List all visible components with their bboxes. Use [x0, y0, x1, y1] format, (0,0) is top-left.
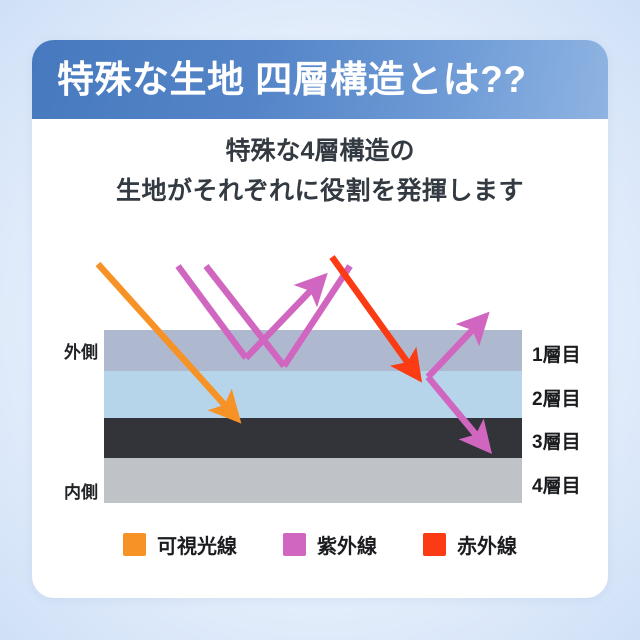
ray-arrows-overlay — [32, 40, 608, 598]
fabric-layer-1 — [104, 330, 522, 371]
legend-label-infrared: 赤外線 — [457, 530, 517, 559]
side-label-inner: 内側 — [36, 478, 98, 503]
layer-label-3: 3層目 — [532, 427, 581, 454]
ray-legend: 可視光線 紫外線 赤外線 — [32, 530, 608, 559]
legend-label-ultraviolet: 紫外線 — [317, 530, 377, 559]
info-card: 特殊な生地 四層構造とは?? 特殊な4層構造の 生地がそれぞれに役割を発揮します… — [32, 40, 608, 598]
layer-label-1: 1層目 — [532, 340, 581, 367]
fabric-layer-2 — [104, 371, 522, 418]
layer-label-4: 4層目 — [532, 471, 581, 498]
fabric-layer-4 — [104, 458, 522, 503]
legend-swatch-infrared — [423, 533, 446, 556]
side-label-outer: 外側 — [36, 338, 98, 363]
fabric-cross-section-diagram: 外側 内側 1層目 2層目 3層目 4層目 — [32, 40, 608, 598]
legend-swatch-visible-light — [123, 533, 146, 556]
page-background: 特殊な生地 四層構造とは?? 特殊な4層構造の 生地がそれぞれに役割を発揮します… — [0, 0, 640, 640]
fabric-layer-3 — [104, 418, 522, 458]
layer-label-2: 2層目 — [532, 384, 581, 411]
legend-swatch-ultraviolet — [283, 533, 306, 556]
legend-item-infrared: 赤外線 — [423, 530, 517, 559]
legend-label-visible-light: 可視光線 — [157, 530, 237, 559]
legend-item-visible-light: 可視光線 — [123, 530, 237, 559]
legend-item-ultraviolet: 紫外線 — [283, 530, 377, 559]
